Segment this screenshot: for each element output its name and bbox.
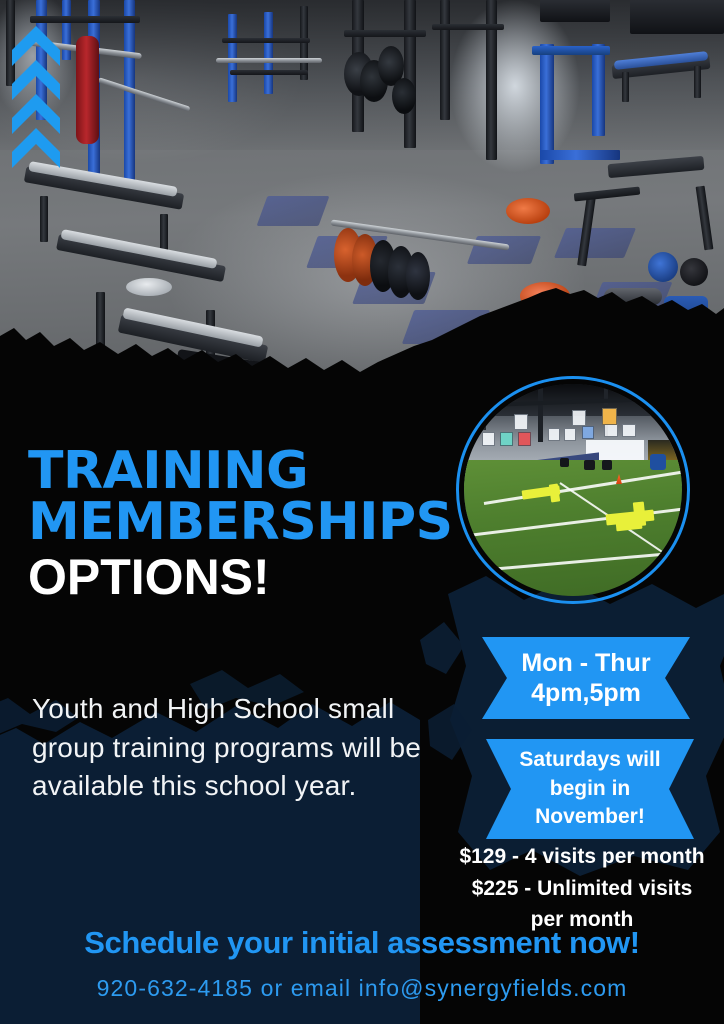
- rack-crossbar: [222, 38, 310, 43]
- bench-leg: [694, 66, 701, 98]
- rack-upright: [62, 0, 71, 60]
- rack-upright: [404, 0, 416, 148]
- pricing-block: $129 - 4 visits per month $225 - Unlimit…: [440, 841, 724, 936]
- floor-mat: [554, 228, 636, 258]
- rack-crossbar: [432, 24, 504, 30]
- heavy-bag: [76, 36, 99, 144]
- rack-upright: [264, 12, 273, 94]
- headline-line-2: MEMBERSHIPS: [28, 498, 458, 547]
- flyer-poster: TRAINING MEMBERSHIPS OPTIONS! Youth and …: [0, 0, 724, 1024]
- up-chevron-arrows-icon: [12, 26, 60, 172]
- schedule-ribbon-weekday: Mon - Thur 4pm,5pm: [482, 637, 690, 719]
- ribbon-2-line-2: begin in: [550, 775, 631, 803]
- bench-leg: [622, 72, 629, 102]
- rack-crossbar: [30, 16, 140, 23]
- headline-block: TRAINING MEMBERSHIPS OPTIONS!: [28, 447, 458, 602]
- weight-plate: [392, 78, 416, 114]
- rack-upright: [300, 6, 308, 80]
- machine-base: [540, 150, 620, 160]
- ribbon-1-line-1: Mon - Thur: [521, 648, 650, 679]
- price-row-2: $225 - Unlimited visits: [440, 873, 724, 905]
- wall-light-glow: [430, 0, 600, 215]
- ribbon-2-line-3: November!: [535, 803, 645, 831]
- headline-line-1: TRAINING: [28, 447, 458, 496]
- cta-text: Schedule your initial assessment now!: [0, 925, 724, 961]
- contact-text: 920-632-4185 or email info@synergyfields…: [0, 975, 724, 1002]
- barbell: [216, 58, 322, 63]
- floor-mat: [257, 196, 330, 226]
- machine-pad: [648, 252, 678, 282]
- machine-frame: [540, 44, 554, 164]
- machine-pad: [680, 258, 708, 286]
- price-row-1: $129 - 4 visits per month: [440, 841, 724, 873]
- turf-photo-circle: [456, 376, 690, 604]
- machine-frame: [592, 44, 605, 136]
- rack-upright: [124, 0, 135, 190]
- rack-upright: [440, 0, 450, 120]
- gym-photo: [0, 0, 724, 392]
- bench-leg: [40, 196, 48, 242]
- circle-ring-border: [456, 376, 690, 604]
- ribbon-1-line-2: 4pm,5pm: [531, 678, 641, 709]
- machine-crossbar: [532, 46, 610, 55]
- schedule-ribbon-saturday: Saturdays will begin in November!: [486, 739, 694, 839]
- body-copy: Youth and High School small group traini…: [32, 690, 462, 806]
- dumbbell-rack: [540, 0, 610, 22]
- dumbbell-rack: [630, 0, 724, 34]
- weight-plate: [506, 198, 550, 224]
- rack-crossbar: [230, 70, 308, 75]
- rack-crossbar: [344, 30, 426, 37]
- ribbon-2-line-1: Saturdays will: [519, 746, 660, 774]
- headline-line-3: OPTIONS!: [28, 552, 458, 602]
